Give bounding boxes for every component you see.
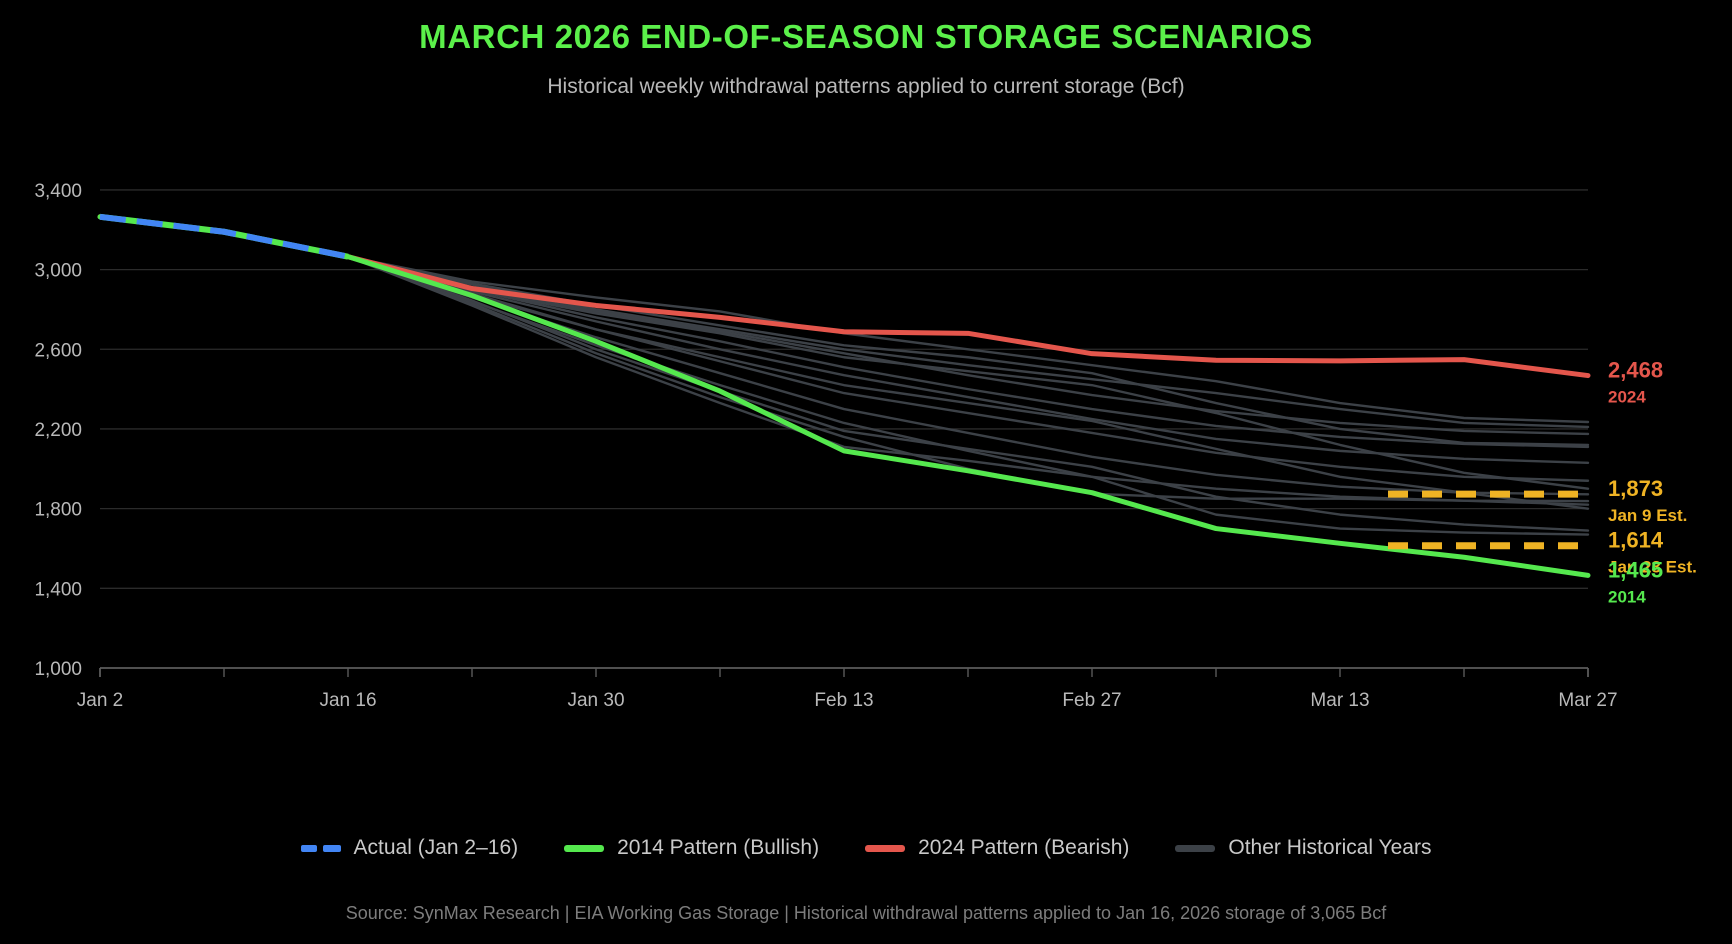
legend-swatch-other: [1175, 845, 1215, 852]
y-axis-tick-label: 2,600: [34, 340, 82, 361]
y-axis-tick-label: 3,000: [34, 261, 82, 282]
legend-item-2014[interactable]: 2014 Pattern (Bullish): [564, 836, 819, 860]
y-axis-tick-label: 2,200: [34, 420, 82, 441]
x-axis-tick-label: Feb 27: [1062, 690, 1121, 711]
series-line: [100, 217, 1588, 576]
series-line: [348, 257, 1588, 434]
legend-item-actual[interactable]: Actual (Jan 2–16): [301, 836, 519, 860]
x-axis-tick-label: Jan 30: [567, 690, 624, 711]
y-axis-tick-label: 3,400: [34, 181, 82, 202]
legend-label-2014: 2014 Pattern (Bullish): [617, 836, 819, 860]
chart-page: MARCH 2026 END-OF-SEASON STORAGE SCENARI…: [0, 0, 1732, 944]
storage-scenarios-chart: 3,4003,0002,6002,2001,8001,4001,000Jan 2…: [0, 0, 1732, 944]
legend-swatch-2024: [865, 845, 905, 852]
annotation-2024-label: 2024: [1608, 388, 1646, 407]
y-axis-tick-label: 1,400: [34, 579, 82, 600]
x-axis-tick-label: Feb 13: [814, 690, 873, 711]
x-axis-tick-label: Mar 27: [1558, 690, 1617, 711]
x-axis-tick-label: Mar 13: [1310, 690, 1369, 711]
legend-swatch-actual: [301, 845, 341, 852]
annotation-2024-value: 2,468: [1608, 358, 1663, 383]
y-axis-tick-label: 1,800: [34, 500, 82, 521]
x-axis-tick-label: Jan 16: [319, 690, 376, 711]
legend-label-actual: Actual (Jan 2–16): [354, 836, 519, 860]
series-line: [348, 257, 1588, 447]
legend-item-2024[interactable]: 2024 Pattern (Bearish): [865, 836, 1129, 860]
annotation-2014-label: 2014: [1608, 587, 1646, 606]
legend-label-other: Other Historical Years: [1228, 836, 1431, 860]
annotation-jan9-est-value: 1,873: [1608, 476, 1663, 501]
chart-legend: Actual (Jan 2–16) 2014 Pattern (Bullish)…: [0, 836, 1732, 860]
legend-label-2024: 2024 Pattern (Bearish): [918, 836, 1129, 860]
legend-swatch-2014: [564, 845, 604, 852]
series-line: [348, 257, 1588, 427]
annotation-jan23-est-value: 1,614: [1608, 528, 1664, 553]
source-note: Source: SynMax Research | EIA Working Ga…: [0, 903, 1732, 924]
series-line: [100, 217, 1588, 376]
y-axis-tick-label: 1,000: [34, 659, 82, 680]
annotation-2014-value: 1,465: [1608, 557, 1663, 582]
x-axis-tick-label: Jan 2: [77, 690, 123, 711]
legend-item-other[interactable]: Other Historical Years: [1175, 836, 1431, 860]
annotation-jan9-est-label: Jan 9 Est.: [1608, 506, 1687, 525]
